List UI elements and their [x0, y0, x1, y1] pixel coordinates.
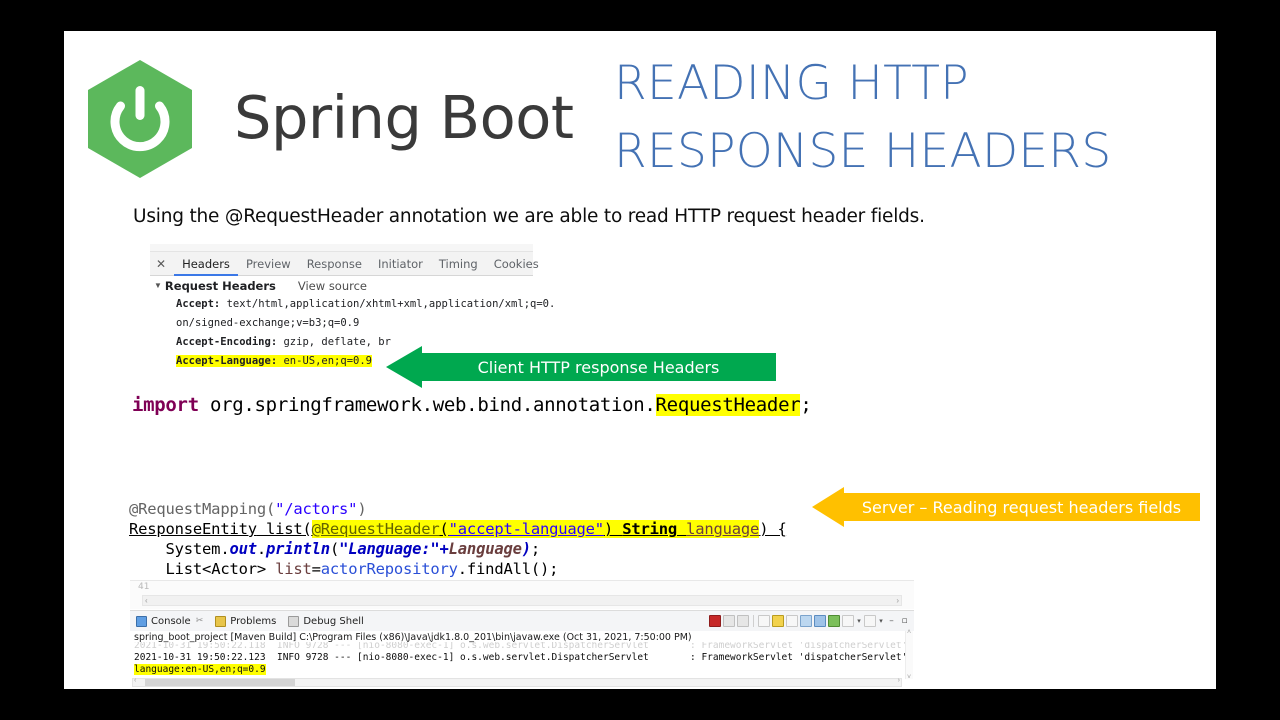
callout-client-headers: Client HTTP response Headers	[386, 346, 776, 388]
token-param-type: String	[622, 520, 677, 538]
pin-console-icon[interactable]	[772, 615, 784, 627]
scroll-down-icon[interactable]: ˅	[907, 674, 911, 681]
console-horizontal-scrollbar[interactable]: ‹ ›	[132, 678, 902, 687]
tab-initiator[interactable]: Initiator	[370, 252, 431, 276]
view-menu-icon[interactable]	[864, 615, 876, 627]
code-line-1: @RequestMapping("/actors")	[129, 499, 787, 519]
scroll-left-icon[interactable]: ‹	[145, 596, 148, 605]
intro-paragraph: Using the @RequestHeader annotation we a…	[133, 206, 925, 227]
eclipse-console-image: 41 ‹ › Console ✂ Problems Debug Shell	[130, 580, 914, 689]
token-println-string: "Language:"	[339, 540, 439, 558]
view-source-link[interactable]: View source	[298, 279, 367, 293]
token-return-type: ResponseEntity	[129, 520, 257, 538]
console-icon	[136, 616, 147, 627]
spring-boot-wordmark: Spring Boot	[234, 83, 573, 152]
terminate-icon[interactable]	[709, 615, 721, 627]
token-find-all: findAll()	[467, 560, 549, 578]
tab-debug-shell[interactable]: Debug Shell	[288, 616, 363, 627]
token-println-var: Language	[449, 540, 522, 558]
console-log-line-2: language:en-US,en;q=0.9	[134, 664, 266, 676]
console-output[interactable]: 2021-10-31 19:50:22.118 INFO 9728 --- [n…	[130, 642, 914, 676]
editor-line-number: 41	[138, 582, 149, 592]
page-title-line-1: READING HTTP	[614, 50, 1204, 118]
token-list-type: List<Actor>	[166, 560, 266, 578]
import-terminator: ;	[800, 394, 811, 416]
callout-body: Client HTTP response Headers	[421, 353, 776, 381]
header-row-accept-cont: on/signed-exchange;v=b3;q=0.9	[176, 314, 533, 333]
console-options-icon[interactable]	[842, 615, 854, 627]
token-println-method: println	[266, 540, 330, 558]
remove-all-terminated-icon[interactable]	[737, 615, 749, 627]
devtools-tabbar: ✕ Headers Preview Response Initiator Tim…	[150, 252, 533, 276]
new-console-view-icon[interactable]	[814, 615, 826, 627]
token-mapping-path: "/actors"	[275, 500, 357, 518]
open-console-icon[interactable]	[800, 615, 812, 627]
debug-shell-icon	[288, 616, 299, 627]
tab-headers[interactable]: Headers	[174, 252, 238, 276]
tab-problems[interactable]: Problems	[215, 616, 276, 627]
callout-server-reading: Server – Reading request headers fields	[812, 487, 1200, 527]
import-package: org.springframework.web.bind.annotation.	[199, 394, 656, 416]
callout-label: Client HTTP response Headers	[478, 358, 720, 377]
callout-body: Server – Reading request headers fields	[843, 493, 1200, 521]
token-local-list: list	[275, 560, 312, 578]
scroll-up-icon[interactable]: ˄	[907, 629, 911, 636]
display-selected-console-icon[interactable]	[786, 615, 798, 627]
editor-horizontal-scrollbar[interactable]: ‹ ›	[142, 595, 902, 606]
arrow-left-icon	[812, 487, 844, 527]
problems-icon	[215, 616, 226, 627]
token-repository: actorRepository	[321, 560, 458, 578]
header-row-accept: Accept: text/html,application/xhtml+xml,…	[176, 295, 533, 314]
tab-console-label: Console	[151, 616, 191, 627]
callout-label: Server – Reading request headers fields	[862, 498, 1181, 517]
tab-problems-label: Problems	[230, 616, 276, 627]
slide-canvas: Spring Boot READING HTTP RESPONSE HEADER…	[64, 31, 1216, 689]
code-import-statement: import org.springframework.web.bind.anno…	[132, 394, 812, 416]
console-log-line-1-right: : FrameworkServlet 'dispatcherServlet': …	[690, 652, 914, 664]
chevron-down-icon[interactable]: ▾	[878, 617, 884, 625]
console-vertical-scrollbar[interactable]: ˄ ˅	[905, 631, 913, 679]
scroll-lock-icon[interactable]	[758, 615, 770, 627]
header-name: Accept-Language:	[176, 355, 277, 367]
header-value: en-US,en;q=0.9	[277, 355, 372, 367]
tab-cookies[interactable]: Cookies	[486, 252, 547, 276]
remove-launch-icon[interactable]	[723, 615, 735, 627]
close-icon[interactable]: ✕	[156, 257, 166, 271]
page-title-line-2: RESPONSE HEADERS	[614, 118, 1204, 186]
page-title: READING HTTP RESPONSE HEADERS	[614, 50, 1204, 186]
tab-response[interactable]: Response	[299, 252, 370, 276]
pin-icon[interactable]: ✂	[196, 616, 204, 626]
console-log-line-1: 2021-10-31 19:50:22.123 INFO 9728 --- [n…	[134, 652, 649, 664]
arrow-left-icon	[386, 346, 422, 388]
word-wrap-icon[interactable]	[828, 615, 840, 627]
scroll-right-icon[interactable]: ›	[898, 677, 900, 684]
console-log-highlight: language:en-US,en;q=0.9	[134, 664, 266, 675]
maximize-icon[interactable]: ▫	[899, 616, 910, 626]
token-out-field: out	[229, 540, 256, 558]
minimize-icon[interactable]: –	[886, 616, 897, 626]
request-headers-label: Request Headers	[165, 279, 276, 293]
header-name: Accept:	[176, 298, 220, 310]
header-name: Accept-Encoding:	[176, 336, 277, 348]
tab-timing[interactable]: Timing	[431, 252, 486, 276]
header-value: on/signed-exchange;v=b3;q=0.9	[176, 317, 359, 329]
console-log-line-faded-right: : FrameworkServlet 'dispatcherServlet': …	[690, 642, 914, 652]
tab-console[interactable]: Console ✂	[136, 616, 203, 627]
token-header-name: "accept-language"	[449, 520, 604, 538]
toolbar-separator	[753, 615, 754, 627]
spring-boot-logo: Spring Boot	[80, 58, 580, 183]
spring-boot-leaf-power-icon	[80, 58, 200, 180]
console-log-line-faded: 2021-10-31 19:50:22.118 INFO 9728 --- [n…	[134, 642, 649, 652]
token-annotation-mapping: @RequestMapping	[129, 500, 266, 518]
token-annotation-header: @RequestHeader	[312, 520, 440, 538]
code-line-4: List<Actor> list=actorRepository.findAll…	[129, 559, 787, 579]
scroll-left-icon[interactable]: ‹	[134, 677, 136, 684]
tab-preview[interactable]: Preview	[238, 252, 299, 276]
tab-debug-shell-label: Debug Shell	[303, 616, 363, 627]
console-toolbar: ▾ ▾ – ▫	[709, 612, 910, 629]
scrollbar-thumb[interactable]	[145, 679, 295, 686]
header-value: gzip, deflate, br	[277, 336, 391, 348]
chevron-down-icon[interactable]: ▾	[856, 617, 862, 625]
code-line-3: System.out.println("Language:"+Language)…	[129, 539, 787, 559]
import-class-highlighted: RequestHeader	[656, 394, 801, 416]
keyword-import: import	[132, 394, 199, 416]
code-line-2: ResponseEntity list(@RequestHeader("acce…	[129, 519, 787, 539]
chevron-down-icon[interactable]: ▼	[154, 281, 162, 290]
editor-scroll-strip: 41 ‹ ›	[130, 581, 914, 609]
scroll-right-icon[interactable]: ›	[896, 596, 899, 605]
token-method-name: list	[266, 520, 303, 538]
header-value: text/html,application/xhtml+xml,applicat…	[220, 298, 555, 310]
request-headers-section-bar: ▼ Request Headers View source	[150, 277, 533, 295]
token-param-name: language	[686, 520, 759, 538]
